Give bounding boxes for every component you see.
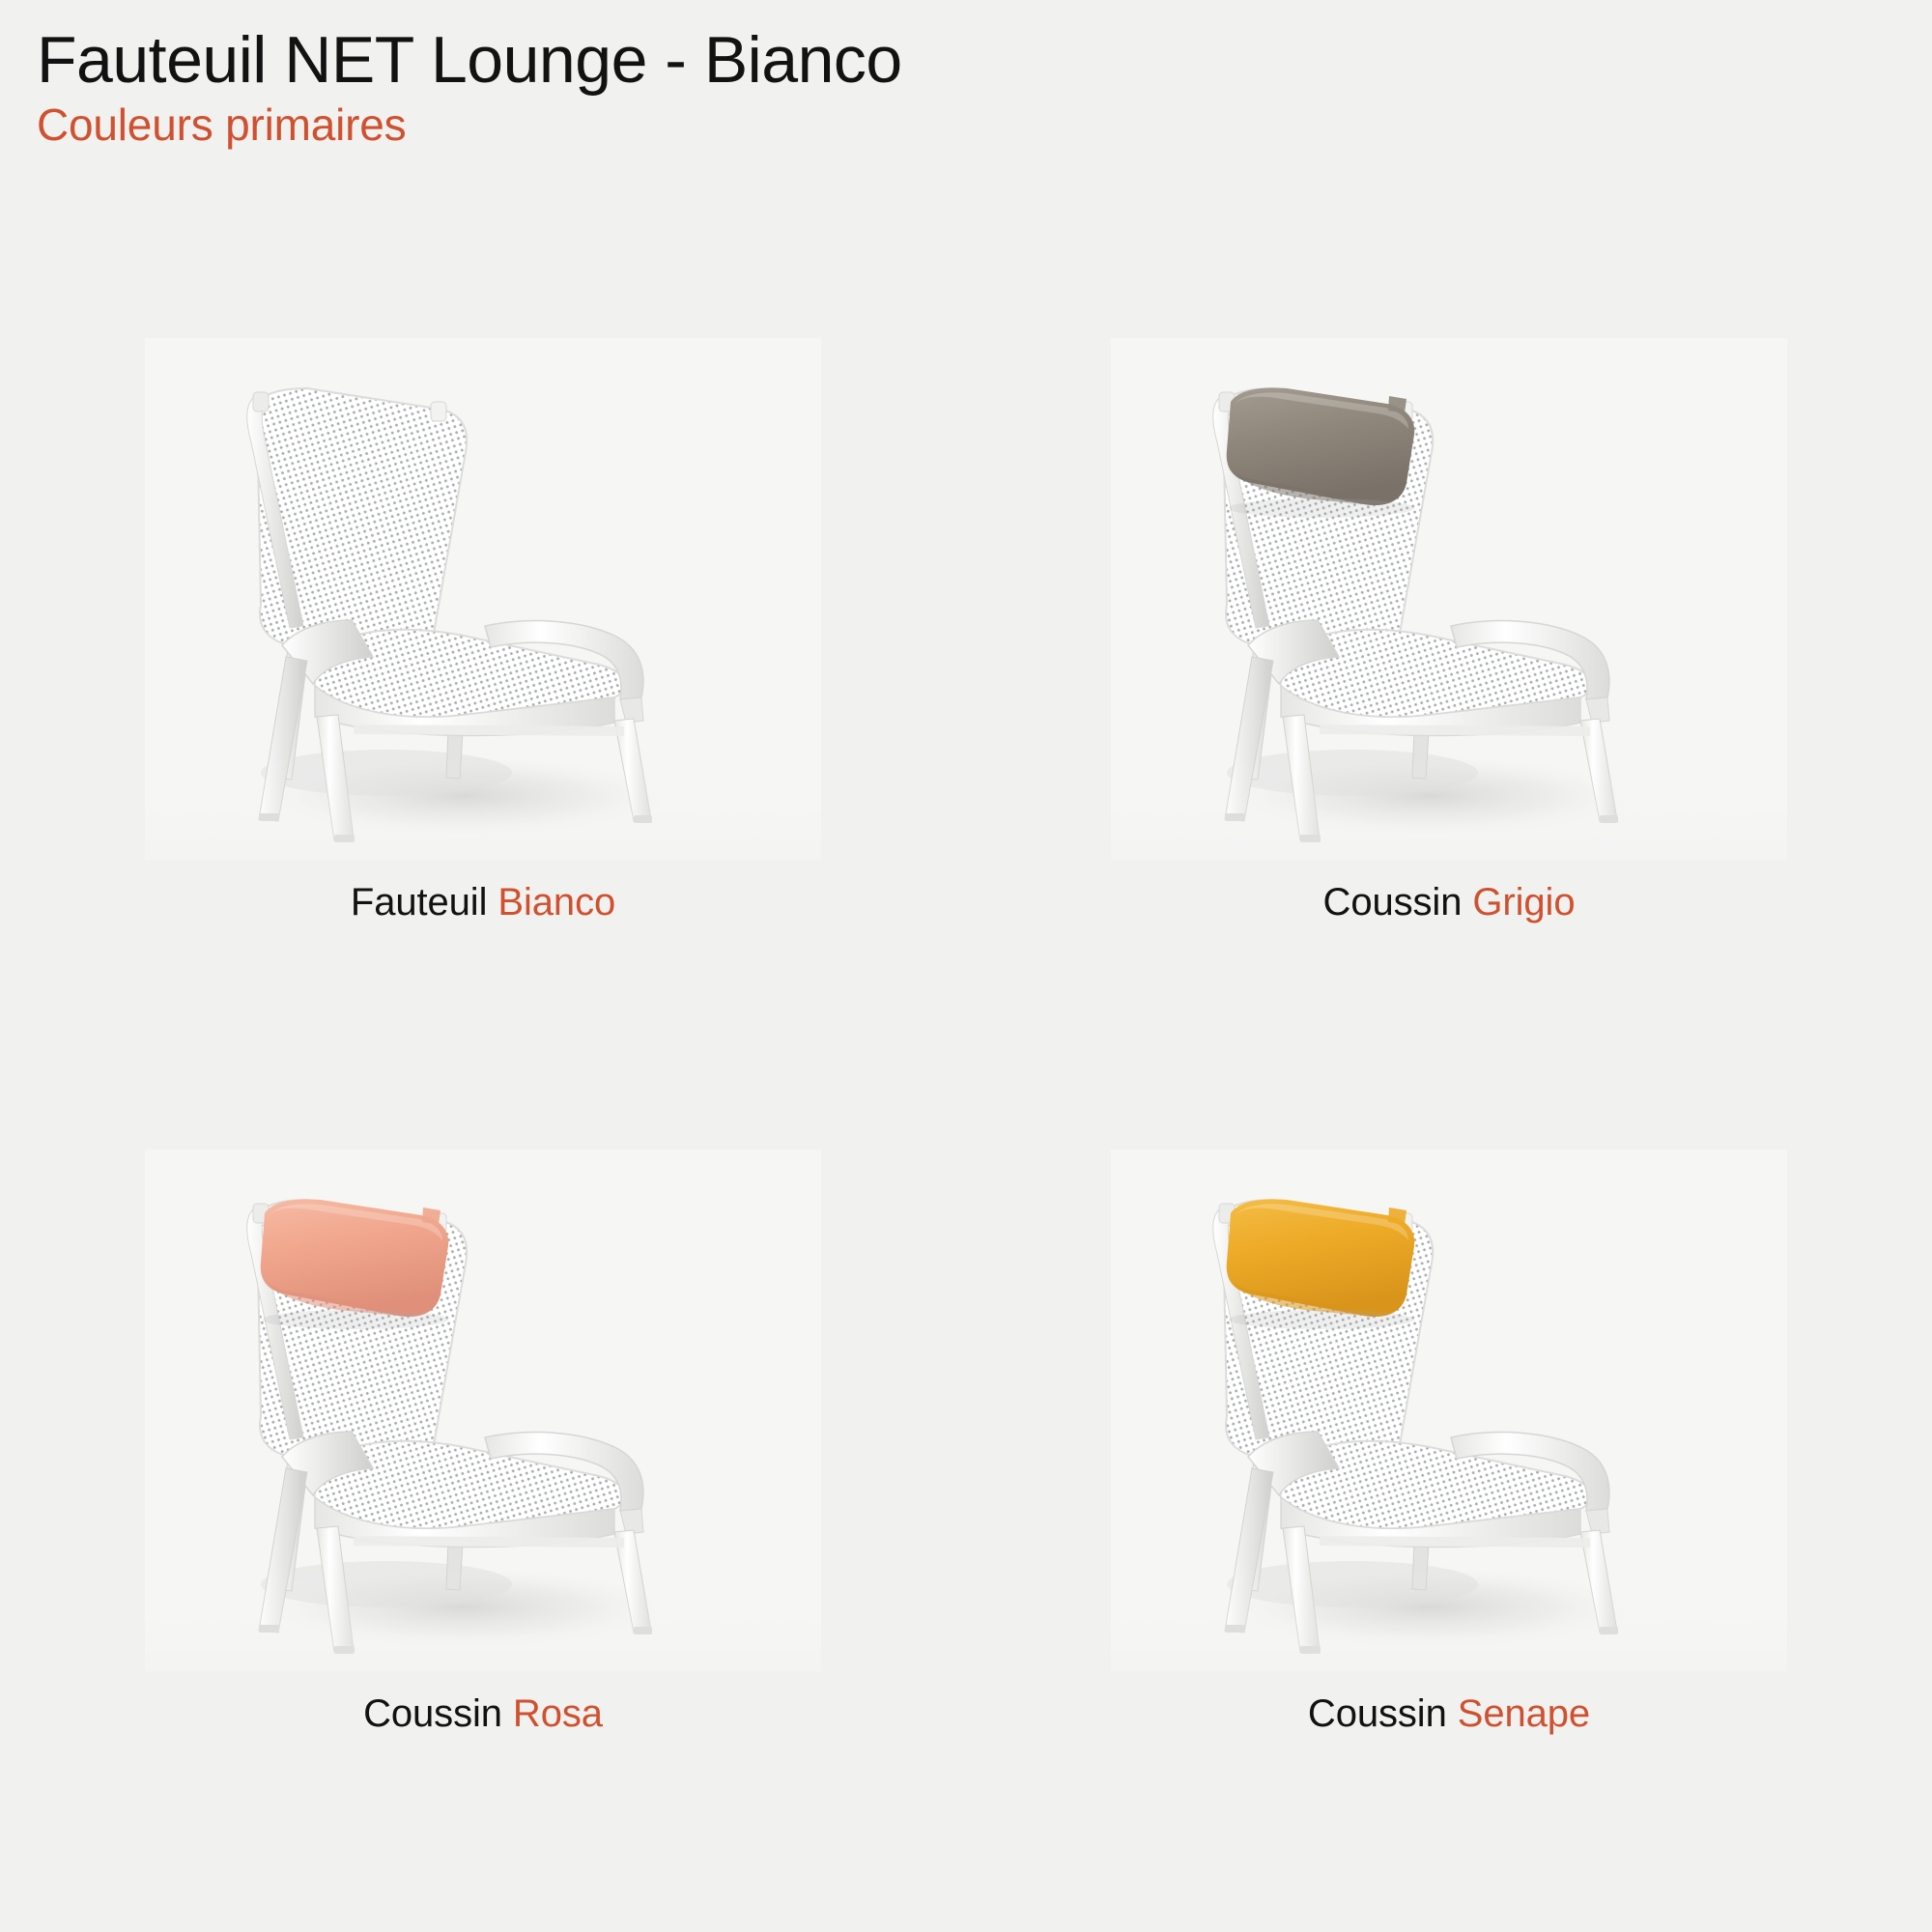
- page-title: Fauteuil NET Lounge - Bianco: [37, 25, 902, 95]
- page-header: Fauteuil NET Lounge - Bianco Couleurs pr…: [37, 25, 902, 150]
- product-sheet-page: Fauteuil NET Lounge - Bianco Couleurs pr…: [0, 0, 1932, 1932]
- chair-image-3[interactable]: [1082, 1130, 1816, 1671]
- caption-variant: Rosa: [513, 1692, 603, 1735]
- product-card[interactable]: Coussin Rosa: [0, 1130, 966, 1748]
- product-variant-grid: Fauteuil Bianco Coussin Grigio Coussin R…: [0, 319, 1932, 1748]
- chair-illustration: [1111, 338, 1787, 860]
- chair-illustration: [145, 338, 821, 860]
- caption-prefix: Coussin: [363, 1692, 502, 1735]
- product-caption: Fauteuil Bianco: [351, 881, 615, 924]
- product-caption: Coussin Senape: [1308, 1692, 1590, 1736]
- chair-image-1[interactable]: [1082, 319, 1816, 860]
- product-card[interactable]: Fauteuil Bianco: [0, 319, 966, 937]
- caption-prefix: Coussin: [1323, 881, 1463, 923]
- product-caption: Coussin Grigio: [1323, 881, 1576, 924]
- caption-variant: Senape: [1458, 1692, 1590, 1735]
- chair-illustration: [1111, 1150, 1787, 1671]
- caption-variant: Grigio: [1472, 881, 1575, 923]
- caption-variant: Bianco: [497, 881, 615, 923]
- product-card[interactable]: Coussin Grigio: [966, 319, 1932, 937]
- product-caption: Coussin Rosa: [363, 1692, 603, 1736]
- chair-illustration: [145, 1150, 821, 1671]
- chair-image-0[interactable]: [116, 319, 850, 860]
- product-card[interactable]: Coussin Senape: [966, 1130, 1932, 1748]
- page-subtitle: Couleurs primaires: [37, 100, 902, 150]
- caption-prefix: Coussin: [1308, 1692, 1447, 1735]
- chair-image-2[interactable]: [116, 1130, 850, 1671]
- caption-prefix: Fauteuil: [351, 881, 488, 923]
